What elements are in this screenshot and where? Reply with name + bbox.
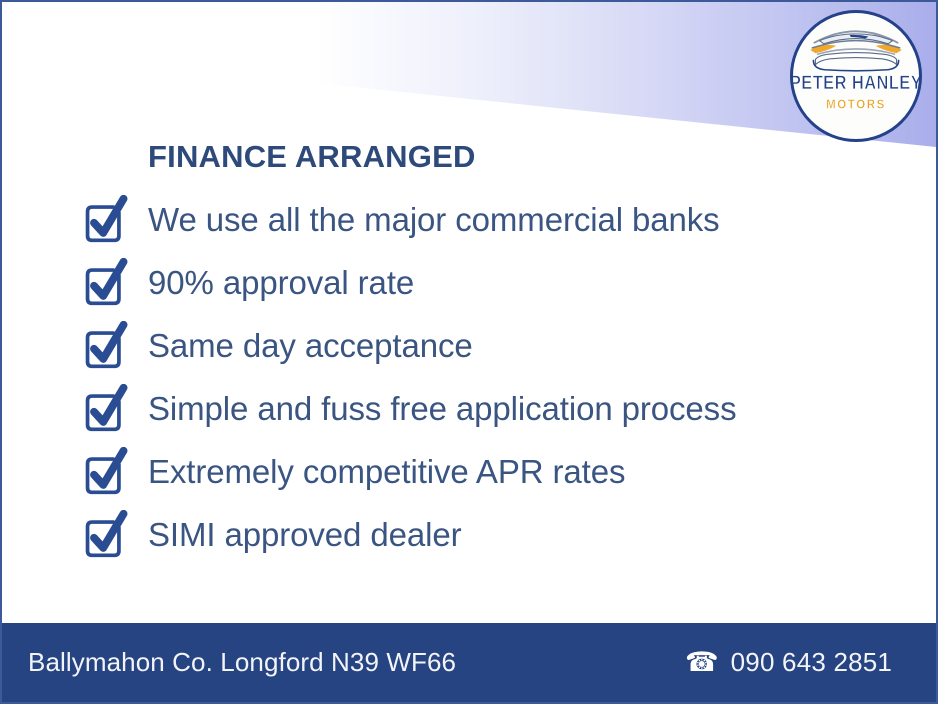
dealer-logo-badge: PETER HANLEY MOTORS [790,10,922,142]
footer-address-text: Ballymahon Co. Longford N39 WF66 [28,647,456,678]
checkbox-checked-icon [82,321,130,371]
list-item: 90% approval rate [82,251,882,314]
checkbox-checked-icon [82,447,130,497]
list-item-label: Same day acceptance [148,329,473,362]
list-item: Simple and fuss free application process [82,377,882,440]
footer-phone-number[interactable]: 090 643 2851 [731,647,892,678]
list-item: SIMI approved dealer [82,503,882,566]
checkbox-checked-icon [82,258,130,308]
footer-bar: Ballymahon Co. Longford N39 WF66 ☎ 090 6… [2,623,938,702]
checkbox-checked-icon [82,510,130,560]
logo-subtitle-text: MOTORS [826,98,886,111]
promo-poster: PETER HANLEY MOTORS FINANCE ARRANGED We … [0,0,938,704]
telephone-icon: ☎ [685,649,719,676]
list-item: Extremely competitive APR rates [82,440,882,503]
list-item-label: Simple and fuss free application process [148,392,737,425]
list-item: Same day acceptance [82,314,882,377]
list-item-label: SIMI approved dealer [148,518,462,551]
car-front-icon [804,27,908,73]
logo-name-text: PETER HANLEY [790,72,922,94]
list-item-label: Extremely competitive APR rates [148,455,625,488]
checkbox-checked-icon [82,195,130,245]
list-item: We use all the major commercial banks [82,188,882,251]
list-item-label: We use all the major commercial banks [148,203,720,236]
benefit-list: We use all the major commercial banks 90… [82,188,882,566]
checkbox-checked-icon [82,384,130,434]
list-item-label: 90% approval rate [148,266,414,299]
footer-phone-group[interactable]: ☎ 090 643 2851 [685,647,892,678]
page-title: FINANCE ARRANGED [148,139,476,175]
